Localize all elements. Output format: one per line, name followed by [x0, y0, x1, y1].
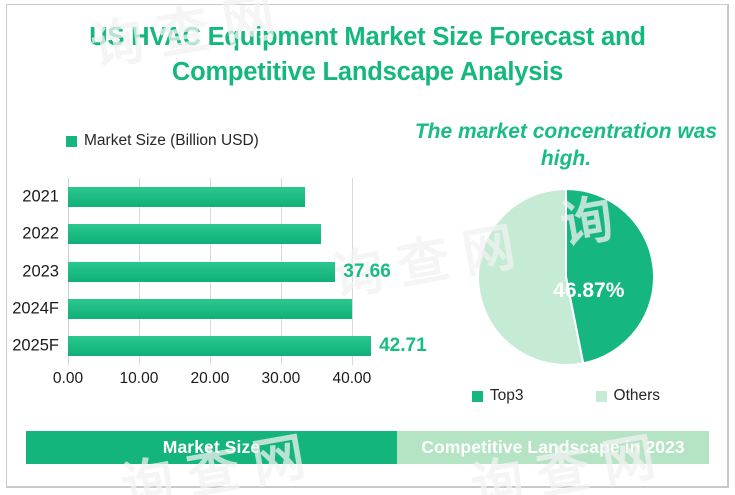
bar-chart-legend: Market Size (Billion USD): [66, 132, 259, 150]
bar-row: 2022: [68, 215, 398, 252]
bar-row: 2024F: [68, 290, 398, 327]
bar[interactable]: [68, 187, 305, 207]
bar-legend-label: Market Size (Billion USD): [84, 132, 259, 150]
section-tabs: Market Size Competitive Landscape in 202…: [26, 431, 709, 464]
x-axis-tick-label: 30.00: [261, 370, 300, 388]
bar-rows: 20212022202337.662024F2025F42.71: [68, 178, 398, 365]
bar[interactable]: 37.66: [68, 262, 335, 282]
bar[interactable]: [68, 224, 321, 244]
y-axis-category-label: 2025F: [12, 337, 59, 356]
bar-row: 202337.66: [68, 253, 398, 290]
tab-market-size[interactable]: Market Size: [26, 431, 397, 464]
y-axis-category-label: 2021: [22, 187, 59, 206]
y-axis-category-label: 2024F: [12, 299, 59, 318]
pie-legend-item[interactable]: Top3: [472, 387, 524, 405]
legend-swatch-icon: [472, 391, 483, 402]
x-axis-tick-label: 0.00: [53, 370, 83, 388]
bar-row: 2025F42.71: [68, 328, 398, 365]
y-axis-category-label: 2022: [22, 225, 59, 244]
x-axis-tick-label: 10.00: [120, 370, 159, 388]
bar-chart-panel: Market Size (Billion USD) 20212022202337…: [10, 120, 406, 420]
bar-value-label: 37.66: [343, 261, 391, 283]
legend-swatch-icon: [596, 391, 607, 402]
bar-plot-area: 20212022202337.662024F2025F42.71: [68, 178, 398, 365]
x-axis-ticks: 0.0010.0020.0030.0040.00: [68, 370, 398, 394]
pie-svg: [477, 188, 655, 366]
pie-legend-label: Top3: [490, 387, 524, 405]
pie-chart-panel: The market concentration was high. 46.87…: [406, 112, 726, 420]
pie-subtitle: The market concentration was high.: [406, 118, 726, 173]
x-axis-tick-label: 20.00: [191, 370, 230, 388]
page-title: US HVAC Equipment Market Size Forecast a…: [36, 20, 699, 90]
bar[interactable]: [68, 299, 352, 319]
y-axis-category-label: 2023: [22, 262, 59, 281]
tab-competitive-landscape[interactable]: Competitive Landscape in 2023: [397, 431, 709, 464]
pie-legend-label: Others: [614, 387, 661, 405]
x-axis-tick-label: 40.00: [332, 370, 371, 388]
legend-swatch-icon: [66, 136, 77, 147]
pie-legend-item[interactable]: Others: [596, 387, 661, 405]
pie-chart-legend: Top3Others: [406, 387, 726, 405]
pie-chart: 46.87%: [477, 188, 655, 366]
bar[interactable]: 42.71: [68, 336, 371, 356]
chart-page: 询 查 网 询 查 网 询 查 网 询 查 网 询 US HVAC Equipm…: [0, 0, 735, 495]
pie-slice[interactable]: [566, 189, 654, 363]
bar-value-label: 42.71: [379, 335, 427, 357]
bar-row: 2021: [68, 178, 398, 215]
